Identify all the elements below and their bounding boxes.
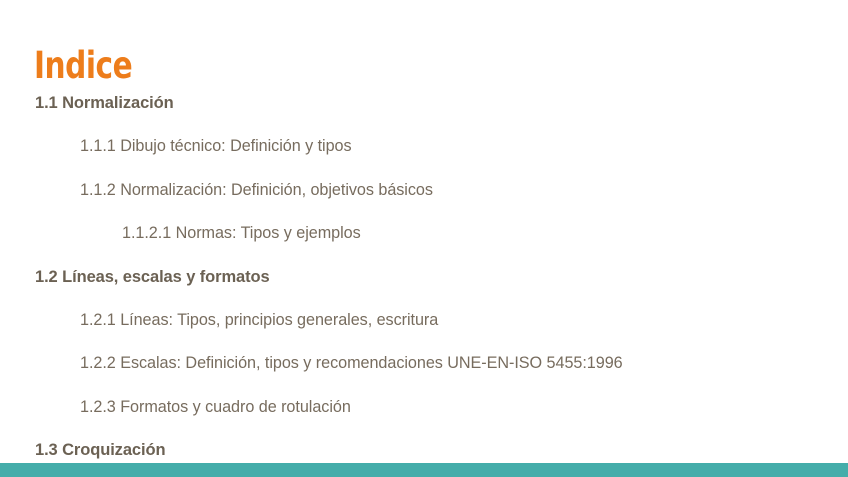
accent-bar (0, 463, 848, 477)
toc-entry-1-1[interactable]: 1.1 Normalización (0, 82, 848, 125)
toc-entry-1-2-1[interactable]: 1.2.1 Líneas: Tipos, principios generale… (0, 299, 848, 343)
toc-entry-1-1-2-1[interactable]: 1.1.2.1 Normas: Tipos y ejemplos (0, 212, 848, 256)
toc-entry-1-1-2[interactable]: 1.1.2 Normalización: Definición, objetiv… (0, 169, 848, 213)
toc-entry-1-2[interactable]: 1.2 Líneas, escalas y formatos (0, 256, 848, 299)
toc-entry-1-2-3[interactable]: 1.2.3 Formatos y cuadro de rotulación (0, 386, 848, 430)
toc-entry-1-1-1[interactable]: 1.1.1 Dibujo técnico: Definición y tipos (0, 125, 848, 169)
slide-canvas: Indice 1.1 Normalización 1.1.1 Dibujo té… (0, 0, 848, 477)
toc-entry-1-2-2[interactable]: 1.2.2 Escalas: Definición, tipos y recom… (0, 342, 848, 386)
table-of-contents: 1.1 Normalización 1.1.1 Dibujo técnico: … (0, 82, 848, 472)
page-title: Indice (34, 45, 132, 87)
